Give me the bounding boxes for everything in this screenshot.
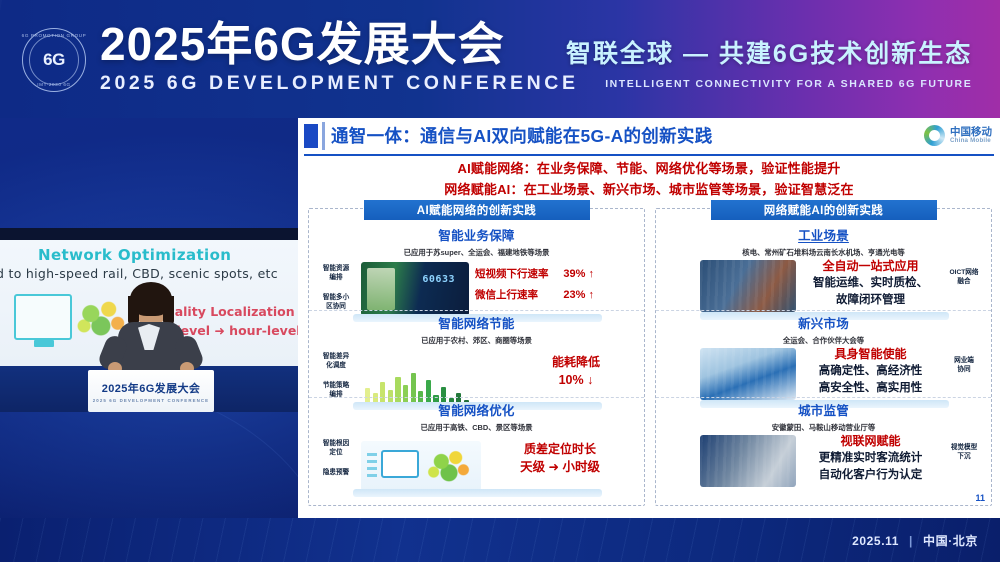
side-tag: 智能根因 定位: [315, 439, 357, 457]
monitor-icon: [14, 294, 72, 340]
block-intelligent-service-assurance: 智能业务保障 已应用于苏super、全运会、福建地铁等场景 智能资源 编排 智能…: [309, 223, 644, 310]
metric-row: 短视频下行速率 39% ↑: [475, 264, 594, 285]
block-title: 智能网络节能: [313, 313, 640, 332]
scenario-thumbnail: [361, 262, 469, 316]
signal-bars-icon: [367, 453, 377, 477]
scenario-text: 具身智能使能 高确定性、高经济性 高安全性、高实用性: [802, 346, 939, 397]
slide-title-underline: [304, 154, 994, 156]
footer-location: 中国·北京: [923, 532, 978, 549]
scenario-headline: 视联网赋能: [802, 433, 939, 450]
heatmap-graphic: [425, 447, 473, 485]
slide-panels: AI赋能网络的创新实践 智能业务保障 已应用于苏super、全运会、福建地铁等场…: [308, 208, 992, 506]
podium-title-cn: 2025年6G发展大会: [102, 380, 201, 396]
block-right-tags: 视觉模型 下沉: [942, 443, 986, 461]
block-side-tags: 智能根因 定位 隐患预警: [315, 439, 357, 477]
bullet-ai-enables-network: AI赋能网络：在业务保障、节能、网络优化等场景，验证性能提升: [298, 158, 1000, 179]
conference-title-cn: 2025年6G发展大会: [100, 18, 579, 70]
right-tag: 网业端 协同: [942, 356, 986, 374]
podium: 2025年6G发展大会 2025 6G DEVELOPMENT CONFEREN…: [88, 370, 214, 412]
conference-slogan: 智联全球 — 共建6G技术创新生态 INTELLIGENT CONNECTIVI…: [566, 34, 972, 90]
metric-highlight-line2: 10% ↓: [552, 371, 600, 389]
panel-right-blocks: 工业场景 核电、常州矿石堆料场云南长水机场、亨通光电等 全自动一站式应用 智能运…: [656, 223, 991, 484]
metric-value: 39% ↑: [563, 264, 594, 285]
footer-separator: |: [909, 534, 913, 548]
block-city-supervision: 城市监管 安徽蒙田、马鞍山移动营业厅等 视联网赋能 更精准实时客流统计 自动化客…: [656, 397, 991, 484]
video-slide-subtitle: d to high-speed rail, CBD, scenic spots,…: [0, 266, 278, 281]
side-tag: 隐患预警: [315, 468, 357, 477]
panel-right-header: 网络赋能AI的创新实践: [711, 200, 937, 220]
metric-highlight: 能耗降低 10% ↓: [552, 354, 600, 389]
title-accent-bar: [304, 124, 318, 148]
block-title: 城市监管: [660, 400, 987, 419]
panel-network-enables-ai: 网络赋能AI的创新实践 工业场景 核电、常州矿石堆料场云南长水机场、亨通光电等 …: [655, 208, 992, 506]
metric-value: 23% ↑: [563, 285, 594, 306]
scenario-line: 自动化客户行为认定: [802, 467, 939, 484]
block-body: 智能根因 定位 隐患预警 质差定位时长 天级 ➜ 小时级: [313, 437, 640, 493]
metric-highlight-line1: 能耗降低: [552, 354, 600, 371]
footer-bar: 2025.11 | 中国·北京: [0, 518, 1000, 562]
block-body: 视联网赋能 更精准实时客流统计 自动化客户行为认定 视觉模型 下沉: [660, 433, 987, 491]
china-mobile-logo: 中国移动 China Mobile: [924, 125, 992, 146]
china-mobile-mark-icon: [924, 125, 945, 146]
block-body: 具身智能使能 高确定性、高经济性 高安全性、高实用性 网业端 协同: [660, 346, 987, 404]
metric-label: 微信上行速率: [475, 285, 538, 306]
scenario-line: 高确定性、高经济性: [802, 363, 939, 380]
footer-meta: 2025.11 | 中国·北京: [852, 532, 978, 549]
slide-page-number: 11: [975, 493, 985, 503]
monitor-icon: [381, 450, 419, 478]
slogan-en: INTELLIGENT CONNECTIVITY FOR A SHARED 6G…: [566, 78, 972, 90]
emblem-inner-label: 6G: [29, 35, 79, 85]
side-tag: 智能多小 区协同: [315, 293, 357, 311]
conference-emblem-icon: 6G PROMOTION GROUP IMT-2030 6G 6G: [22, 28, 86, 92]
video-slide-title: Network Optimization: [38, 246, 231, 264]
scenario-photo: [700, 260, 796, 312]
screenshot-root: 6G PROMOTION GROUP IMT-2030 6G 6G 2025年6…: [0, 0, 1000, 562]
block-emerging-market: 新兴市场 全运会、合作伙伴大会等 具身智能使能 高确定性、高经济性 高安全性、高…: [656, 310, 991, 397]
slide-bullets: AI赋能网络：在业务保障、节能、网络优化等场景，验证性能提升 网络赋能AI：在工…: [298, 158, 1000, 200]
panel-ai-enables-network: AI赋能网络的创新实践 智能业务保障 已应用于苏super、全运会、福建地铁等场…: [308, 208, 645, 506]
scenario-text: 全自动一站式应用 智能运维、实时质检、 故障闭环管理: [802, 258, 939, 309]
block-right-tags: 网业端 协同: [942, 356, 986, 374]
block-title: 智能网络优化: [313, 400, 640, 419]
emblem-ring-top: 6G PROMOTION GROUP: [22, 33, 87, 38]
block-subtitle: 安徽蒙田、马鞍山移动营业厅等: [660, 422, 987, 433]
metric-highlight-line2: 天级 ➜ 小时级: [520, 458, 600, 476]
metric-list: 短视频下行速率 39% ↑ 微信上行速率 23% ↑: [475, 264, 594, 306]
metric-highlight: 质差定位时长 天级 ➜ 小时级: [520, 441, 600, 476]
block-subtitle: 已应用于苏super、全运会、福建地铁等场景: [313, 247, 640, 258]
block-industrial-scenario: 工业场景 核电、常州矿石堆料场云南长水机场、亨通光电等 全自动一站式应用 智能运…: [656, 223, 991, 310]
block-right-tags: OICT网络 融合: [942, 268, 986, 286]
block-title: 工业场景: [660, 225, 987, 244]
block-subtitle: 核电、常州矿石堆料场云南长水机场、亨通光电等: [660, 247, 987, 258]
side-tag: 智能差异 化调度: [315, 352, 357, 370]
scenario-headline: 具身智能使能: [802, 346, 939, 363]
scenario-text: 视联网赋能 更精准实时客流统计 自动化客户行为认定: [802, 433, 939, 484]
metric-row: 微信上行速率 23% ↑: [475, 285, 594, 306]
scenario-line: 高安全性、高实用性: [802, 380, 939, 397]
slide-header-row: 通智一体：通信与AI双向赋能在5G-A的创新实践 中国移动 China Mobi…: [298, 118, 1000, 152]
block-intelligent-network-optimization: 智能网络优化 已应用于高铁、CBD、景区等场景 智能根因 定位 隐患预警: [309, 397, 644, 484]
emblem-ring-bottom: IMT-2030 6G: [37, 82, 70, 87]
side-tag: 智能资源 编排: [315, 264, 357, 282]
panel-left-blocks: 智能业务保障 已应用于苏super、全运会、福建地铁等场景 智能资源 编排 智能…: [309, 223, 644, 484]
scenario-line: 更精准实时客流统计: [802, 450, 939, 467]
logo-text-en: China Mobile: [950, 138, 992, 145]
speaker-hair: [130, 282, 172, 316]
block-title: 智能业务保障: [313, 225, 640, 244]
bullet-network-enables-ai: 网络赋能AI：在工业场景、新兴市场、城市监管等场景，验证智慧泛在: [298, 179, 1000, 200]
scenario-photo: [700, 348, 796, 400]
conference-title-en: 2025 6G DEVELOPMENT CONFERENCE: [100, 72, 579, 95]
right-tag: 视觉模型 下沉: [942, 443, 986, 461]
scenario-photo: [700, 435, 796, 487]
emblem-ring-text: 6G PROMOTION GROUP IMT-2030 6G: [23, 29, 85, 91]
block-side-tags: 智能资源 编排 智能多小 区协同: [315, 264, 357, 311]
block-intelligent-network-energy-saving: 智能网络节能 已应用于农村、郊区、商圈等场景 智能差异 化调度 节能策略 编排 …: [309, 310, 644, 397]
china-mobile-wordmark: 中国移动 China Mobile: [950, 127, 992, 145]
conference-header-banner: 6G PROMOTION GROUP IMT-2030 6G 6G 2025年6…: [0, 0, 1000, 118]
block-subtitle: 已应用于高铁、CBD、景区等场景: [313, 422, 640, 433]
metric-highlight-line1: 质差定位时长: [520, 441, 600, 458]
block-shelf-graphic: [353, 489, 602, 497]
block-body: 全自动一站式应用 智能运维、实时质检、 故障闭环管理 OICT网络 融合: [660, 258, 987, 316]
scenario-line: 智能运维、实时质检、: [802, 275, 939, 292]
block-title: 新兴市场: [660, 313, 987, 332]
header-titles: 2025年6G发展大会 2025 6G DEVELOPMENT CONFEREN…: [100, 18, 579, 95]
block-subtitle: 全运会、合作伙伴大会等: [660, 335, 987, 346]
title-accent-line: [322, 122, 325, 150]
presentation-slide: 通智一体：通信与AI双向赋能在5G-A的创新实践 中国移动 China Mobi…: [298, 118, 1000, 518]
slogan-cn: 智联全球 — 共建6G技术创新生态: [566, 34, 972, 70]
panel-left-header: AI赋能网络的创新实践: [364, 200, 590, 220]
speaker-video-inset[interactable]: Network Optimization d to high-speed rai…: [0, 228, 298, 412]
right-tag: OICT网络 融合: [942, 268, 986, 286]
block-side-tags: 智能差异 化调度 节能策略 编排: [315, 352, 357, 399]
network-optimization-graphic: [361, 441, 481, 491]
block-subtitle: 已应用于农村、郊区、商圈等场景: [313, 335, 640, 346]
podium-title-en: 2025 6G DEVELOPMENT CONFERENCE: [93, 398, 209, 403]
slide-title: 通智一体：通信与AI双向赋能在5G-A的创新实践: [331, 123, 713, 148]
metric-label: 短视频下行速率: [475, 264, 549, 285]
footer-date: 2025.11: [852, 534, 899, 548]
scenario-line: 故障闭环管理: [802, 292, 939, 309]
scenario-headline: 全自动一站式应用: [802, 258, 939, 275]
